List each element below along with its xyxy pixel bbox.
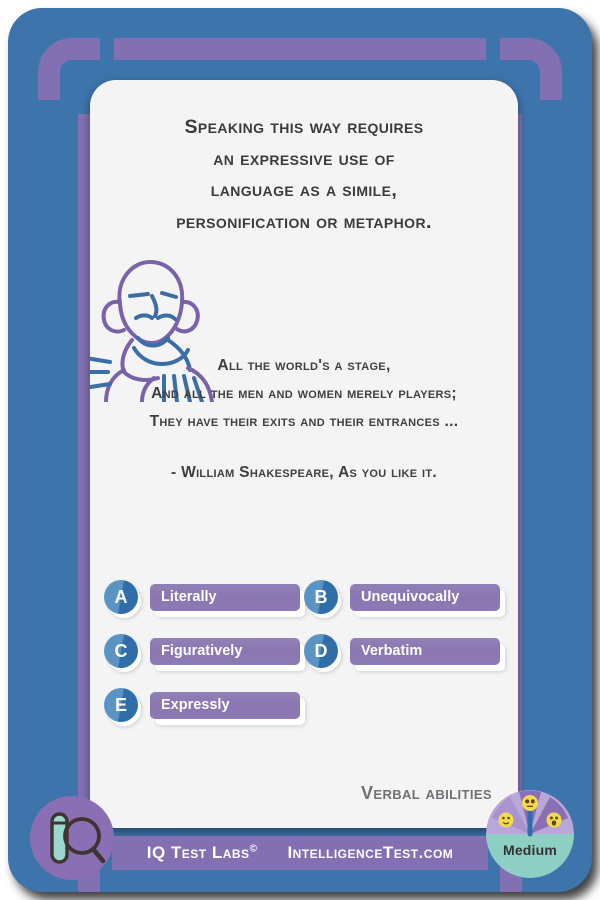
option-letter-b[interactable]: B [304,580,338,614]
brand-name: IQ Test Labs© [147,843,258,863]
question-line: an expressive use of [108,144,500,176]
option-c[interactable]: C Figuratively [104,634,304,668]
footer-bar: IQ Test Labs© IntelligenceTest.com [112,836,488,870]
decor-elbow-top-left [38,38,100,100]
quote-attribution: - William Shakespeare, As you like it. [90,464,518,482]
quote-text: All the world's a stage, And all the men… [90,352,518,435]
copyright-mark: © [250,843,258,854]
option-row: C Figuratively D Verbatim [104,634,504,668]
question-card: Speaking this way requires an expressive… [90,80,518,828]
brand-label: IQ Test Labs [147,843,250,862]
option-letter-d[interactable]: D [304,634,338,668]
quote-line: All the world's a stage, [90,352,518,380]
quote-zone: All the world's a stage, And all the men… [90,252,518,522]
option-label-b[interactable]: Unequivocally [350,584,500,611]
option-letter-a[interactable]: A [104,580,138,614]
option-row: A Literally B Unequivocally [104,580,504,614]
card-frame: Speaking this way requires an expressive… [8,8,592,892]
iq-testtube-magnifier-icon [30,796,114,880]
options-grid: A Literally B Unequivocally C Figurati [104,580,504,742]
option-label-c[interactable]: Figuratively [150,638,300,665]
question-line: personification or metaphor. [108,207,500,239]
question-stem: Speaking this way requires an expressive… [108,112,500,238]
option-b[interactable]: B Unequivocally [304,580,504,614]
option-label-a[interactable]: Literally [150,584,300,611]
option-a[interactable]: A Literally [104,580,304,614]
difficulty-gauge-icon: Medium [486,790,574,878]
difficulty-level-label: Medium [486,842,574,858]
category-label: Verbal abilities [361,783,492,804]
option-letter-e[interactable]: E [104,688,138,722]
option-label-d[interactable]: Verbatim [350,638,500,665]
option-d[interactable]: D Verbatim [304,634,504,668]
decor-top-bar [114,38,486,60]
option-label-e[interactable]: Expressly [150,692,300,719]
site-url[interactable]: IntelligenceTest.com [287,843,453,863]
option-e[interactable]: E Expressly [104,688,304,722]
option-letter-c[interactable]: C [104,634,138,668]
option-row: E Expressly [104,688,504,722]
quote-line: They have their exits and their entrance… [90,408,518,436]
quote-line: And all the men and women merely players… [90,380,518,408]
question-line: Speaking this way requires [108,112,500,144]
question-line: language as a simile, [108,175,500,207]
